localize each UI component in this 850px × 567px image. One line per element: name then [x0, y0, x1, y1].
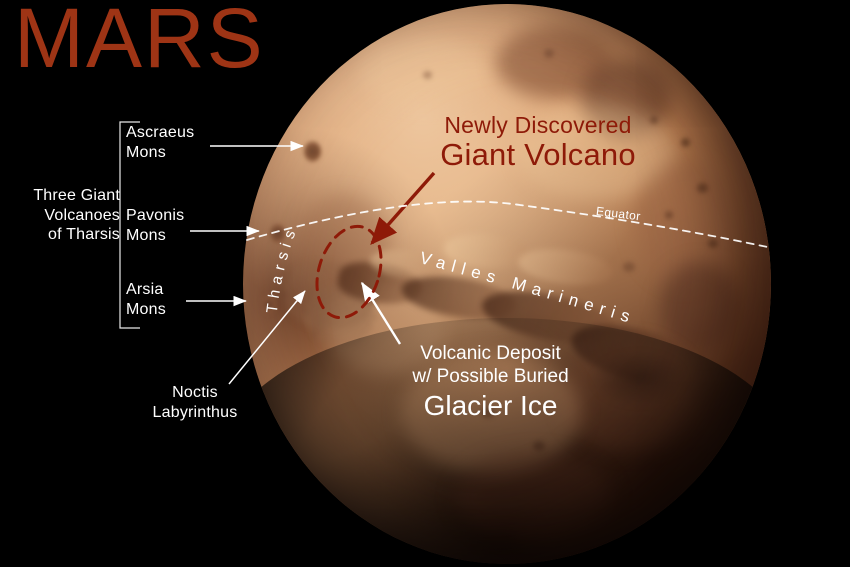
label-ascraeus-mons-line2: Mons	[126, 143, 194, 163]
label-pavonis-mons: Pavonis Mons	[126, 206, 184, 245]
glacier-arrow	[362, 283, 400, 344]
label-noctis-line1: Noctis	[120, 383, 270, 403]
tharsis-group-label-line3: of Tharsis	[8, 225, 120, 245]
glacier-ice-annotation-line2: w/ Possible Buried	[383, 365, 598, 388]
glacier-ice-annotation: Volcanic Deposit w/ Possible Buried Glac…	[383, 342, 598, 423]
glacier-ice-annotation-line3: Glacier Ice	[383, 388, 598, 423]
glacier-ice-annotation-line1: Volcanic Deposit	[383, 342, 598, 365]
label-ascraeus-mons: Ascraeus Mons	[126, 123, 194, 162]
label-arsia-mons-line1: Arsia	[126, 280, 166, 300]
tharsis-group-label: Three Giant Volcanoes of Tharsis	[8, 186, 120, 245]
label-pavonis-mons-line2: Mons	[126, 226, 184, 246]
tharsis-group-label-line2: Volcanoes	[8, 206, 120, 226]
tharsis-group-label-line1: Three Giant	[8, 186, 120, 206]
label-arsia-mons: Arsia Mons	[126, 280, 166, 319]
giant-volcano-annotation: Newly Discovered Giant Volcano	[408, 113, 668, 173]
label-ascraeus-mons-line1: Ascraeus	[126, 123, 194, 143]
label-pavonis-mons-line1: Pavonis	[126, 206, 184, 226]
giant-volcano-arrow	[372, 173, 434, 243]
label-noctis-labyrinthus: Noctis Labyrinthus	[120, 383, 270, 422]
valles-marineris-label: Valles Marineris	[418, 248, 639, 328]
giant-volcano-annotation-line1: Newly Discovered	[408, 113, 668, 137]
giant-volcano-annotation-line2: Giant Volcano	[408, 137, 668, 173]
label-arsia-mons-line2: Mons	[126, 300, 166, 320]
mars-annotated-figure: MARS Tharsis	[0, 0, 850, 567]
tharsis-label: Tharsis	[264, 223, 302, 315]
label-noctis-line2: Labyrinthus	[120, 403, 270, 423]
equator-line	[247, 202, 772, 248]
